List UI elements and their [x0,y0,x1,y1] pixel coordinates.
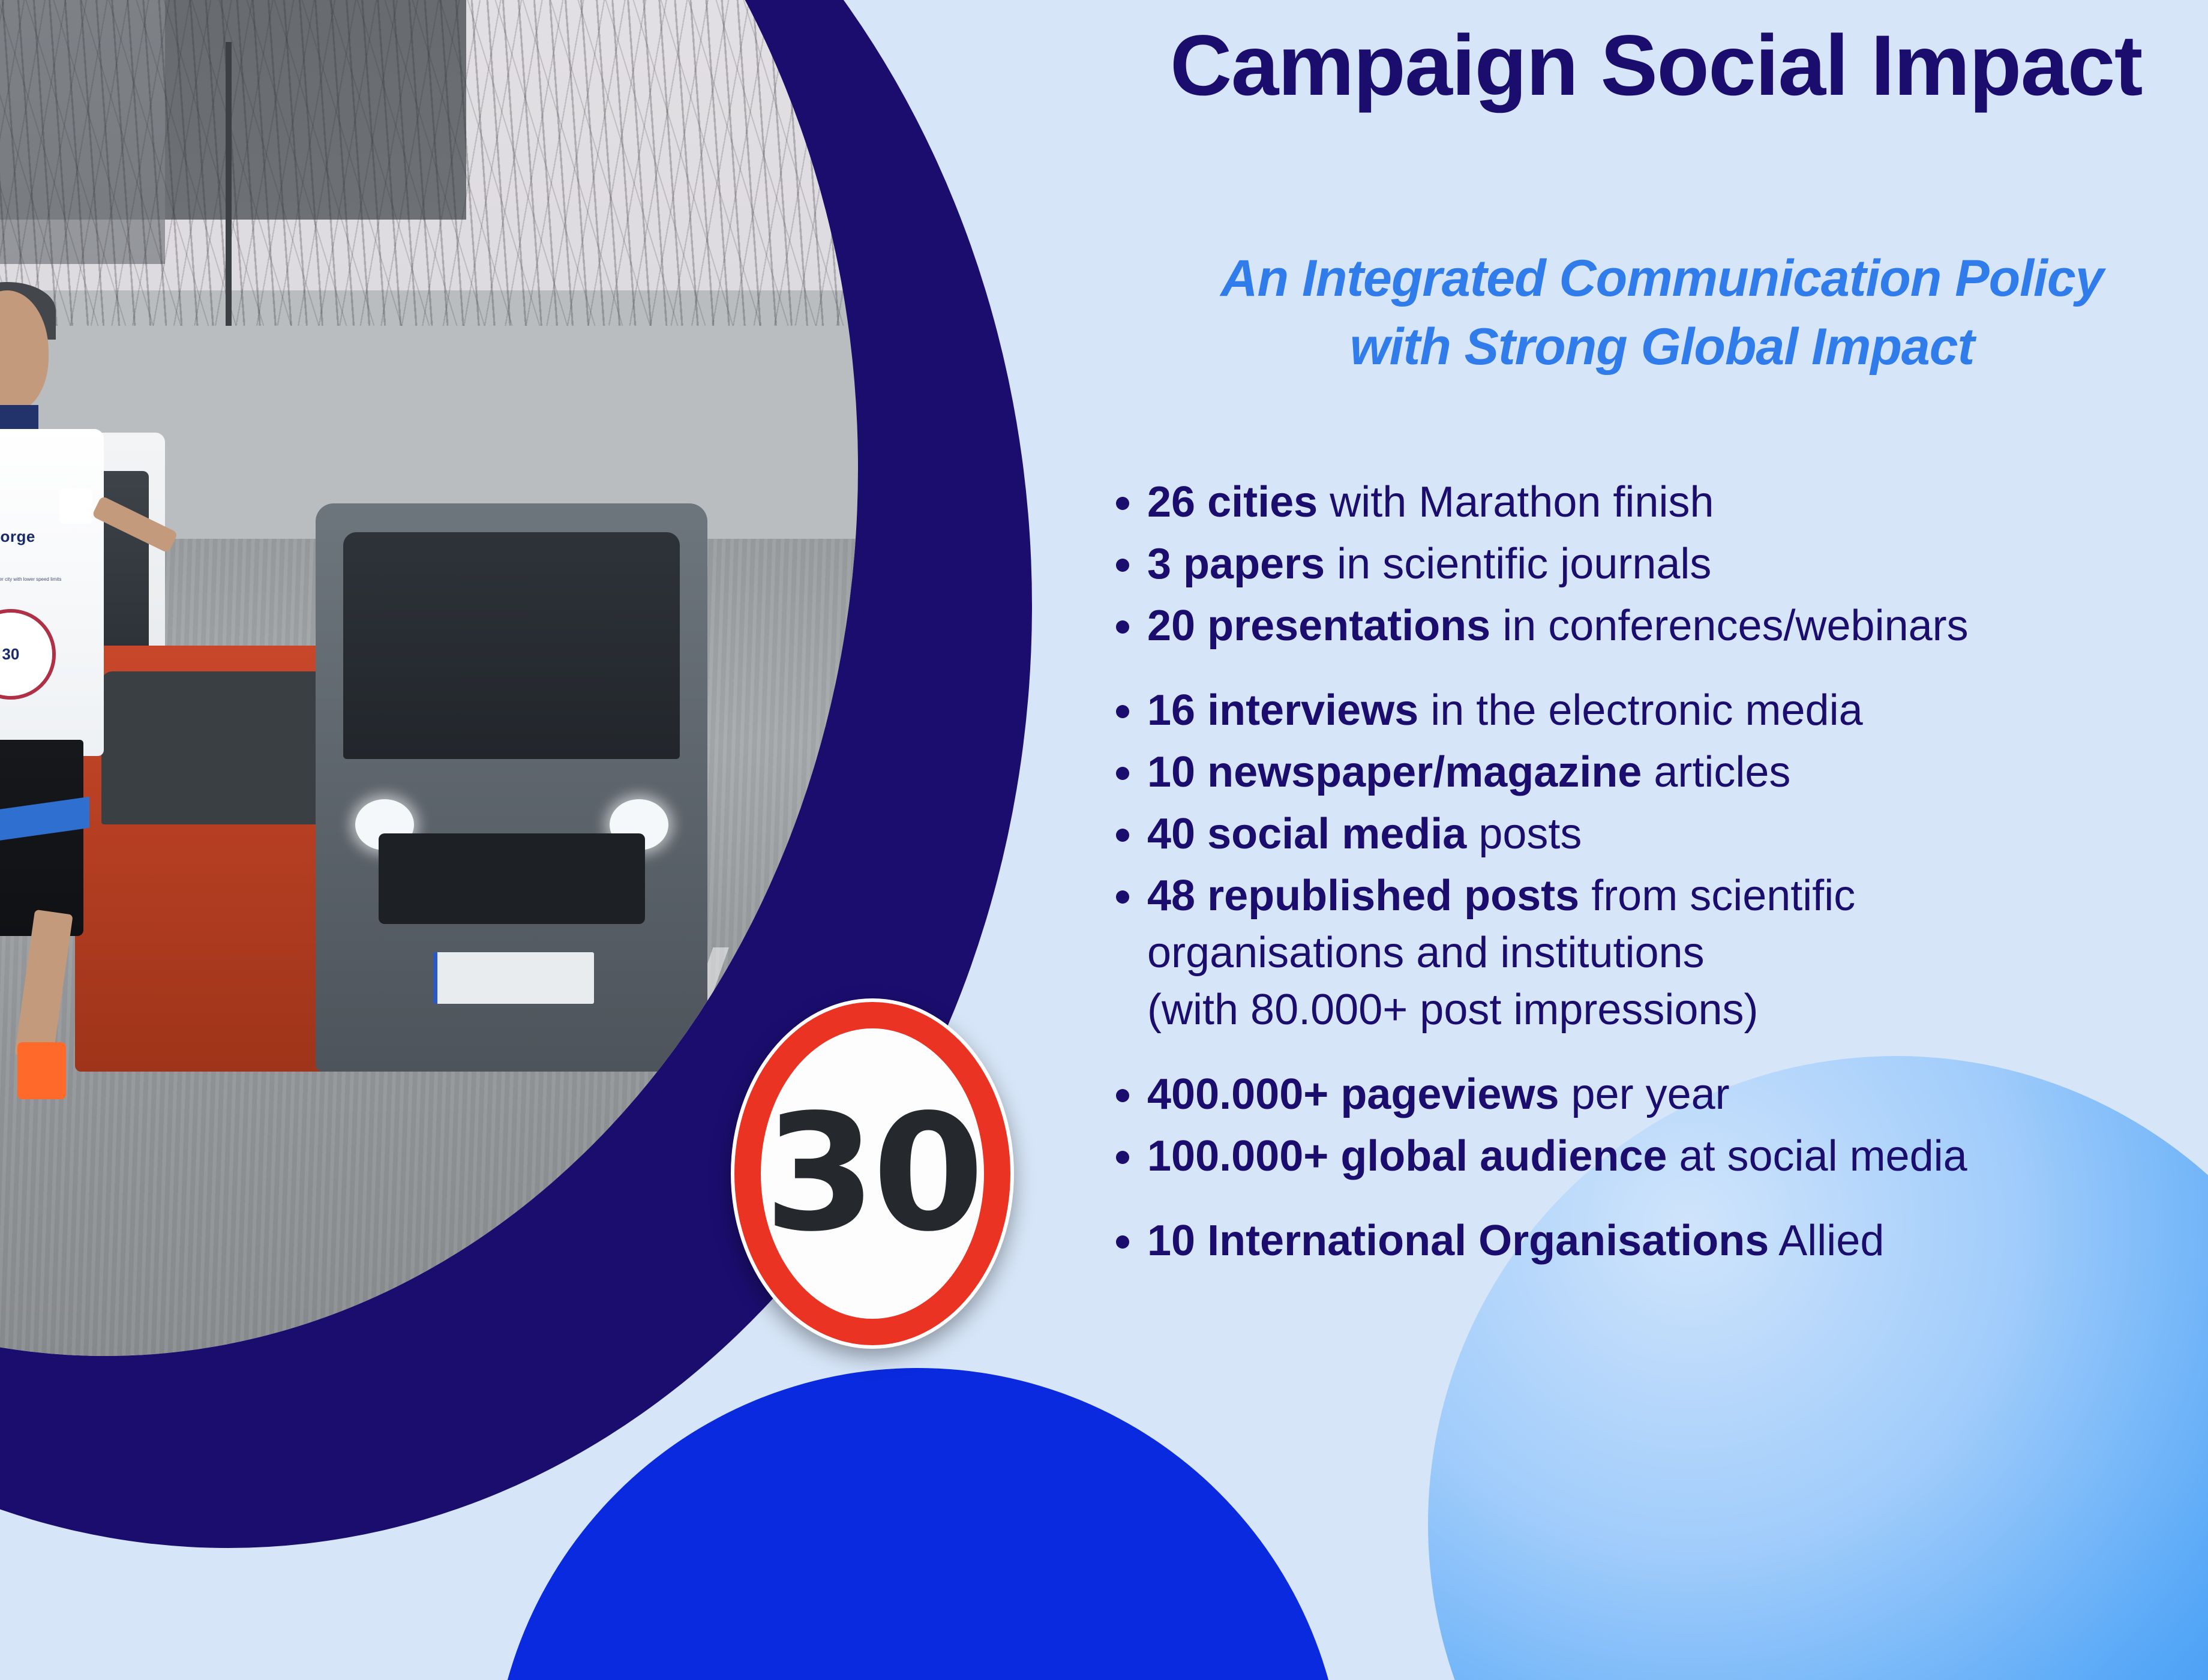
bullet-text: 48 republished posts from scientificorga… [1147,868,2208,1039]
bullet-text: 26 cities with Marathon finish [1147,474,2208,531]
photo-scene: George for a safer and healthier city wi… [0,0,858,1356]
bullet-text: 10 newspaper/magazine articles [1147,744,2208,801]
grey-smart-car [316,503,707,1072]
bullet-line: 26 cities with Marathon finish [1147,474,2208,531]
runner-shorts [0,740,83,936]
bullet-line: 48 republished posts from scientific [1147,868,2208,925]
bullet-item: 10 International Organisations Allied [1116,1213,2208,1270]
smart-license-plate [433,952,594,1003]
bullet-dot-icon [1116,705,1129,718]
bullet-item: 10 newspaper/magazine articles [1116,744,2208,801]
bullet-group: 16 interviews in the electronic media10 … [1116,682,2208,1039]
bullet-text: 16 interviews in the electronic media [1147,682,2208,739]
bullet-item: 48 republished posts from scientificorga… [1116,868,2208,1039]
bullet-line: 400.000+ pageviews per year [1147,1066,2208,1123]
bullet-line: organisations and institutions [1147,925,2208,982]
bullet-line: 3 papers in scientific journals [1147,536,2208,593]
bullet-description: in conferences/webinars [1490,602,1968,650]
bullet-metric: 40 social media [1147,810,1466,858]
page-title: Campaign Social Impact [1104,23,2208,109]
bullet-metric: 100.000+ global audience [1147,1132,1667,1180]
runner-right-sleeve [59,488,92,524]
bullet-text: 20 presentations in conferences/webinars [1147,598,2208,655]
bullet-metric: 26 cities [1147,478,1318,526]
bullet-metric: 10 newspaper/magazine [1147,748,1642,796]
bullet-text: 3 papers in scientific journals [1147,536,2208,593]
bullet-description: from scientific [1579,872,1855,920]
content-panel: Campaign Social Impact An Integrated Com… [1104,0,2208,1680]
smart-grille [379,833,645,925]
bullet-description: with Marathon finish [1318,478,1714,526]
runner-right-shoe [17,1042,66,1099]
bullet-description: Allied [1769,1217,1884,1265]
runner-tshirt [0,429,104,756]
speed-limit-30-sign: 30 [731,998,1014,1349]
bullet-dot-icon [1116,829,1129,842]
bullet-metric: 16 interviews [1147,686,1418,734]
bullet-item: 400.000+ pageviews per year [1116,1066,2208,1123]
bullet-metric: 20 presentations [1147,602,1490,650]
bullet-line: 20 presentations in conferences/webinars [1147,598,2208,655]
bullet-dot-icon [1116,497,1129,510]
bullet-line: 16 interviews in the electronic media [1147,682,2208,739]
bullet-description: at social media [1667,1132,1967,1180]
bullet-metric: 10 International Organisations [1147,1217,1769,1265]
bullet-description: in the electronic media [1418,686,1862,734]
runner-figure: George for a safer and healthier city wi… [0,290,180,1108]
bullet-line: 10 International Organisations Allied [1147,1213,2208,1270]
smart-windshield [343,532,680,760]
bullet-group: 400.000+ pageviews per year100.000+ glob… [1116,1066,2208,1185]
bullet-line: (with 80.000+ post impressions) [1147,982,2208,1039]
bullet-dot-icon [1116,1235,1129,1249]
bullet-item: 20 presentations in conferences/webinars [1116,598,2208,655]
bullet-item: 3 papers in scientific journals [1116,536,2208,593]
bullet-item: 40 social media posts [1116,806,2208,863]
bullet-metric: 400.000+ pageviews [1147,1070,1559,1118]
bullet-item: 100.000+ global audience at social media [1116,1128,2208,1185]
bullet-item: 16 interviews in the electronic media [1116,682,2208,739]
shirt-name-text: George [0,527,97,546]
bullet-line: 100.000+ global audience at social media [1147,1128,2208,1185]
bullet-dot-icon [1116,1089,1129,1102]
street-photo: George for a safer and healthier city wi… [0,0,858,1356]
bullet-text: 10 International Organisations Allied [1147,1213,2208,1270]
bullet-dot-icon [1116,890,1129,904]
bullet-description: posts [1466,810,1582,858]
slide-canvas: George for a safer and healthier city wi… [0,0,2208,1680]
speed-limit-value: 30 [764,1093,981,1254]
bullet-item: 26 cities with Marathon finish [1116,474,2208,531]
bullet-group: 10 International Organisations Allied [1116,1213,2208,1270]
bullet-description: in scientific journals [1325,540,1711,588]
impact-bullet-list: 26 cities with Marathon finish3 papers i… [1116,474,2208,1274]
bullet-dot-icon [1116,1151,1129,1164]
bullet-description: articles [1642,748,1790,796]
bullet-text: 400.000+ pageviews per year [1147,1066,2208,1123]
tree-trunk [226,42,232,326]
shirt-tagline-text: for a safer and healthier city with lowe… [0,577,97,582]
subtitle-line-1: An Integrated Communication Policy [1152,245,2172,313]
bullet-metric: 3 papers [1147,540,1325,588]
runner-right-arm [91,496,178,554]
bare-trees [0,0,858,326]
bullet-dot-icon [1116,620,1129,634]
page-subtitle: An Integrated Communication Policy with … [1152,245,2172,381]
bullet-description: per year [1559,1070,1730,1118]
subtitle-line-2: with Strong Global Impact [1152,313,2172,382]
bullet-group: 26 cities with Marathon finish3 papers i… [1116,474,2208,655]
bullet-dot-icon [1116,767,1129,780]
bullet-text: 40 social media posts [1147,806,2208,863]
bullet-line: 40 social media posts [1147,806,2208,863]
bullet-text: 100.000+ global audience at social media [1147,1128,2208,1185]
bullet-dot-icon [1116,559,1129,572]
bullet-metric: 48 republished posts [1147,872,1579,920]
bullet-line: 10 newspaper/magazine articles [1147,744,2208,801]
